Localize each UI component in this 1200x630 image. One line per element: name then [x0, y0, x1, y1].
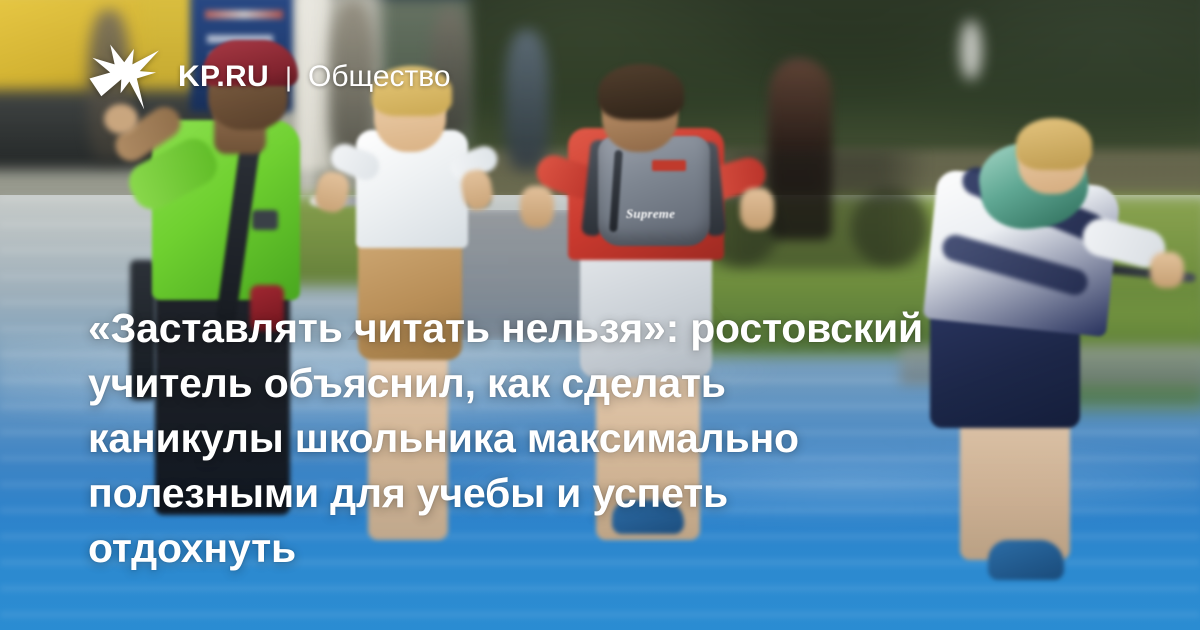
headline: «Заставлять читать нельзя»: ростовский у…: [88, 301, 1108, 576]
photo-child-hand: [740, 188, 774, 230]
photo-backpack-label: [652, 160, 686, 171]
headline-line-4: полезными для учебы и успеть: [88, 466, 1108, 521]
headline-line-3: каникулы школьника максимально: [88, 411, 1108, 466]
photo-pedestrian: [960, 20, 982, 80]
headline-line-2: учитель объяснил, как сделать: [88, 356, 1108, 411]
photo-child-hair: [598, 64, 684, 120]
headline-line-5: отдохнуть: [88, 521, 1108, 576]
headline-line-1: «Заставлять читать нельзя»: ростовский: [88, 301, 1108, 356]
photo-child-hand: [1150, 252, 1184, 288]
kp-swallow-bird-icon[interactable]: [88, 40, 162, 114]
social-share-card: Supreme KP.RU | Общество: [0, 0, 1200, 630]
photo-pedestrian: [505, 30, 549, 170]
photo-sign-text-line-1: [205, 10, 283, 19]
brand-name[interactable]: KP.RU: [178, 62, 269, 92]
brand-header: KP.RU | Общество: [88, 40, 451, 114]
photo-bag-buckle: [252, 210, 278, 230]
rubric-label[interactable]: Общество: [308, 62, 451, 92]
photo-child-hand: [520, 186, 554, 228]
photo-backpack-brand-text: Supreme: [626, 206, 692, 222]
photo-child-hair: [1016, 118, 1092, 170]
brand-divider: |: [285, 64, 292, 91]
